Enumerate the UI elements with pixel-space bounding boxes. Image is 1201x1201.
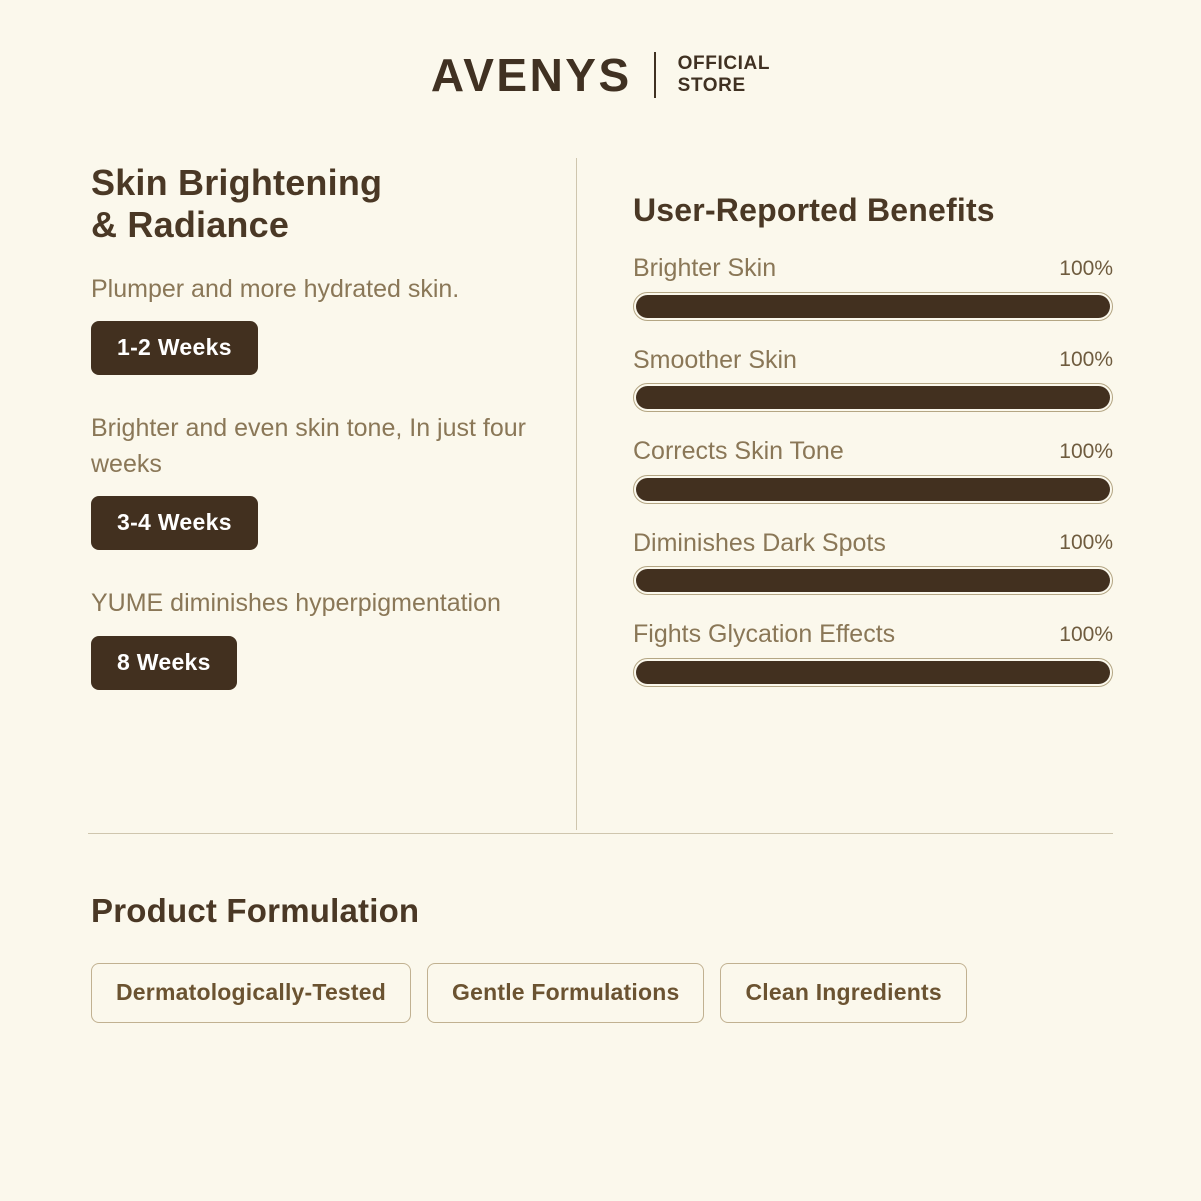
benefit-bar-track [633,383,1113,412]
left-column-title-line1: Skin Brightening [91,162,576,204]
benefit-percent: 100% [1059,348,1113,374]
phase-description: Plumper and more hydrated skin. [91,272,561,308]
timeline-phase: YUME diminishes hyperpigmentation 8 Week… [91,586,576,690]
phase-duration-badge: 8 Weeks [91,636,237,690]
benefit-row: Brighter Skin 100% [633,255,1113,321]
formulation-chip-list: Dermatologically-Tested Gentle Formulati… [91,963,1116,1023]
brand-subtitle: OFFICIAL STORE [678,53,770,97]
left-column-title: Skin Brightening & Radiance [91,162,576,246]
brand-subtitle-line2: STORE [678,75,770,97]
benefit-bar-track [633,292,1113,321]
columns-section: Skin Brightening & Radiance Plumper and … [88,158,1113,830]
benefit-header: Smoother Skin 100% [633,347,1113,375]
benefit-bar-fill [636,295,1110,318]
formulation-chip: Clean Ingredients [720,963,966,1023]
benefit-bar-track [633,566,1113,595]
timeline-phase: Plumper and more hydrated skin. 1-2 Week… [91,272,576,376]
infographic-page: AVENYS OFFICIAL STORE Skin Brightening &… [0,0,1201,1201]
benefit-percent: 100% [1059,531,1113,557]
benefit-header: Corrects Skin Tone 100% [633,438,1113,466]
benefit-row: Diminishes Dark Spots 100% [633,530,1113,596]
timeline-phase: Brighter and even skin tone, In just fou… [91,411,576,550]
brand-header: AVENYS OFFICIAL STORE [0,52,1201,98]
benefit-header: Brighter Skin 100% [633,255,1113,283]
benefit-percent: 100% [1059,623,1113,649]
benefit-label: Brighter Skin [633,255,776,283]
benefit-bar-track [633,475,1113,504]
phase-duration-badge: 3-4 Weeks [91,496,258,550]
benefit-row: Fights Glycation Effects 100% [633,621,1113,687]
benefit-header: Diminishes Dark Spots 100% [633,530,1113,558]
brand-name: AVENYS [431,52,632,98]
benefit-label: Smoother Skin [633,347,797,375]
benefit-bar-track [633,658,1113,687]
brand-subtitle-line1: OFFICIAL [678,53,770,75]
formulation-title: Product Formulation [91,892,1116,930]
benefit-label: Diminishes Dark Spots [633,530,886,558]
benefit-bar-fill [636,386,1110,409]
benefit-bar-fill [636,569,1110,592]
user-reported-benefits-column: User-Reported Benefits Brighter Skin 100… [577,158,1113,830]
benefit-header: Fights Glycation Effects 100% [633,621,1113,649]
left-column-title-line2: & Radiance [91,204,576,246]
brand-divider [654,52,656,98]
benefit-row: Corrects Skin Tone 100% [633,438,1113,504]
formulation-chip: Dermatologically-Tested [91,963,411,1023]
product-formulation-section: Product Formulation Dermatologically-Tes… [91,892,1116,1023]
benefit-label: Fights Glycation Effects [633,621,895,649]
phase-description: YUME diminishes hyperpigmentation [91,586,561,622]
formulation-chip: Gentle Formulations [427,963,704,1023]
horizontal-divider [88,833,1113,834]
right-column-title: User-Reported Benefits [633,192,1113,229]
benefit-percent: 100% [1059,257,1113,283]
benefit-bar-fill [636,661,1110,684]
benefit-row: Smoother Skin 100% [633,347,1113,413]
benefit-bar-fill [636,478,1110,501]
skin-brightening-column: Skin Brightening & Radiance Plumper and … [88,158,576,830]
benefit-percent: 100% [1059,440,1113,466]
phase-description: Brighter and even skin tone, In just fou… [91,411,561,482]
phase-duration-badge: 1-2 Weeks [91,321,258,375]
benefit-label: Corrects Skin Tone [633,438,844,466]
